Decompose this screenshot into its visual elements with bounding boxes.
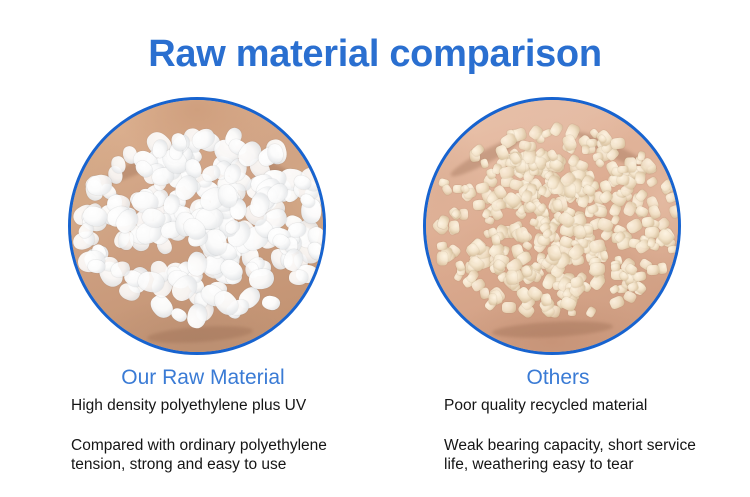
plastic-pellet [552,199,563,212]
pellet-pile [76,118,318,325]
plastic-pellet [488,294,497,305]
plastic-pellet [647,265,659,275]
plastic-pellet [647,237,656,247]
plastic-pellet [289,270,308,285]
plastic-pellet [491,235,501,246]
comparison-column-our-raw-material [68,97,338,355]
plastic-pellet [590,263,606,276]
plastic-pellet [479,158,488,169]
plastic-pellet [608,295,625,311]
photo-clip [71,100,323,352]
pellet-pile [431,118,673,325]
plastic-pellet [600,250,609,260]
description-others-secondary: Weak bearing capacity, short service lif… [444,436,696,474]
plastic-pellet [667,245,677,253]
plastic-pellet [119,232,134,251]
plastic-pellet [658,262,668,274]
plastic-pellet [437,252,448,266]
photo-clip [426,100,678,352]
plastic-pellet [610,137,625,149]
raw-material-comparison-graphic: Raw material comparison Our Raw Material… [0,0,750,497]
plastic-pellet [582,145,589,154]
plastic-pellet [499,165,515,179]
plastic-pellet [645,227,659,238]
plastic-pellet [646,176,659,188]
subtitle-our-raw-material: Our Raw Material [68,366,338,390]
plastic-pellet [618,166,628,174]
plastic-pellet [668,204,678,219]
plastic-pellet [473,199,486,210]
circular-photo-white-plastic-pellets-in-hand [68,97,326,355]
page-title: Raw material comparison [0,33,750,76]
plastic-pellet [585,306,597,319]
circular-photo-beige-recycled-pellets-in-hand [423,97,681,355]
plastic-pellet [261,295,281,312]
subtitle-others: Others [423,366,693,390]
description-others-primary: Poor quality recycled material [444,396,647,415]
comparison-column-others [423,97,693,355]
plastic-pellet [506,270,518,285]
description-our-raw-material-secondary: Compared with ordinary polyethylene tens… [71,436,327,474]
plastic-pellet [436,241,447,250]
plastic-pellet [502,302,516,313]
plastic-pellet [441,183,453,196]
plastic-pellet [449,220,460,234]
plastic-pellet [518,140,531,151]
description-our-raw-material-primary: High density polyethylene plus UV [71,396,306,415]
